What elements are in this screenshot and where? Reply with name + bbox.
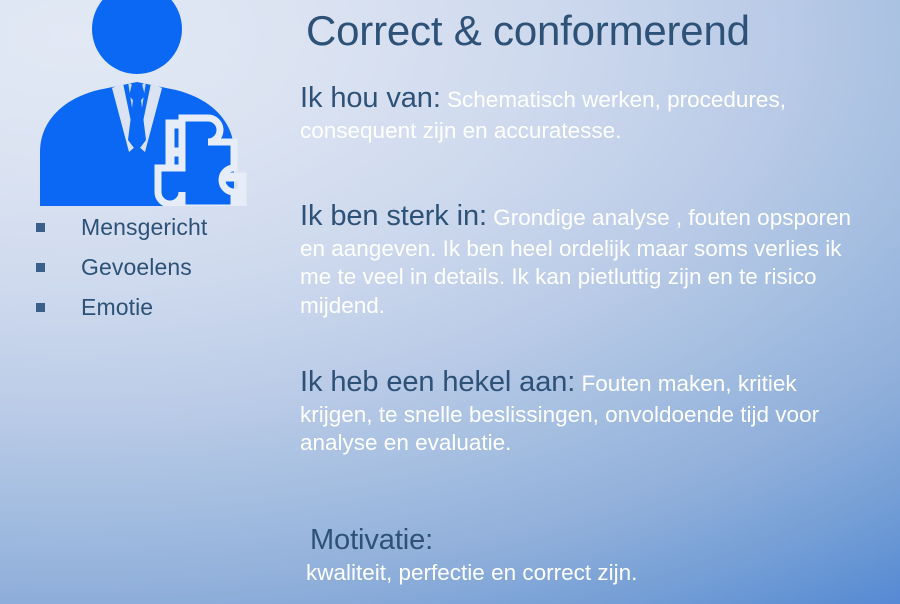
section-body: kwaliteit, perfectie en correct zijn. <box>300 558 860 587</box>
section-lead: Ik heb een hekel aan: <box>300 366 575 398</box>
section-lead: Ik ben sterk in: <box>300 200 487 232</box>
businessman-puzzle-icon <box>28 0 292 206</box>
section-ik-ben-sterk-in: Ik ben sterk in: Grondige analyse , fout… <box>300 198 860 321</box>
bullet-label: Mensgericht <box>45 216 207 239</box>
left-column: Mensgericht Gevoelens Emotie <box>0 0 292 604</box>
bullet-label: Emotie <box>45 296 153 319</box>
square-bullet-icon <box>36 223 45 232</box>
list-item: Mensgericht <box>0 216 292 256</box>
right-column: Correct & conformerend Ik hou van: Schem… <box>296 0 900 604</box>
page-title: Correct & conformerend <box>306 8 750 53</box>
bullet-label: Gevoelens <box>45 256 192 279</box>
section-motivatie: Motivatie: kwaliteit, perfectie en corre… <box>300 522 860 588</box>
slide-canvas: Mensgericht Gevoelens Emotie Correct & c… <box>0 0 900 604</box>
square-bullet-icon <box>36 263 45 272</box>
square-bullet-icon <box>36 303 45 312</box>
section-lead: Motivatie: <box>300 522 860 558</box>
trait-bullet-list: Mensgericht Gevoelens Emotie <box>0 216 292 336</box>
section-ik-heb-een-hekel-aan: Ik heb een hekel aan: Fouten maken, krit… <box>300 364 860 458</box>
section-ik-hou-van: Ik hou van: Schematisch werken, procedur… <box>300 80 860 145</box>
list-item: Emotie <box>0 296 292 336</box>
list-item: Gevoelens <box>0 256 292 296</box>
section-lead: Ik hou van: <box>300 82 441 114</box>
